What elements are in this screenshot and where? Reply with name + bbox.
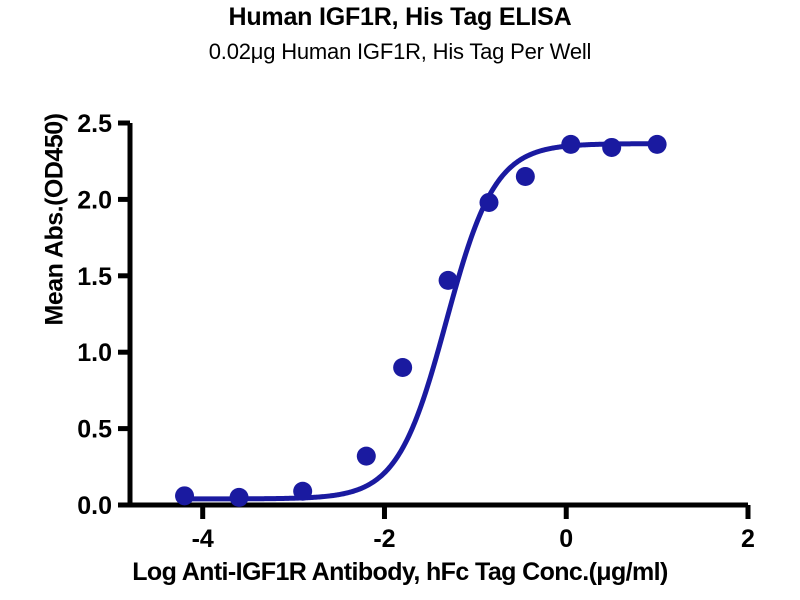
data-points-group bbox=[175, 135, 667, 507]
data-point bbox=[175, 486, 194, 505]
data-point bbox=[602, 138, 621, 157]
axis-group bbox=[118, 123, 748, 519]
elisa-chart: Human IGF1R, His Tag ELISA 0.02μg Human … bbox=[0, 0, 800, 600]
data-point bbox=[561, 135, 580, 154]
y-tick-label: 1.0 bbox=[77, 339, 112, 367]
y-tick-label: 0.5 bbox=[77, 416, 112, 444]
data-point bbox=[230, 488, 249, 507]
y-tick-label: 2.0 bbox=[77, 186, 112, 214]
x-tick-label: -2 bbox=[373, 525, 395, 553]
data-point bbox=[479, 193, 498, 212]
y-tick-label: 0.0 bbox=[77, 492, 112, 520]
x-tick-label: 2 bbox=[741, 525, 755, 553]
data-point bbox=[393, 358, 412, 377]
data-point bbox=[516, 167, 535, 186]
data-point bbox=[648, 135, 667, 154]
plot-area: 0.00.51.01.52.02.5 -4-202 bbox=[0, 0, 800, 600]
data-point bbox=[357, 447, 376, 466]
data-point bbox=[439, 271, 458, 290]
fit-curve bbox=[185, 144, 658, 499]
x-tick-label: 0 bbox=[559, 525, 573, 553]
x-tick-label: -4 bbox=[192, 525, 214, 553]
y-tick-label-group: 0.00.51.01.52.02.5 bbox=[77, 110, 112, 520]
fit-curve-group bbox=[185, 144, 658, 499]
y-tick-label: 1.5 bbox=[77, 263, 112, 291]
y-tick-label: 2.5 bbox=[77, 110, 112, 138]
data-point bbox=[293, 482, 312, 501]
x-tick-label-group: -4-202 bbox=[192, 525, 755, 553]
